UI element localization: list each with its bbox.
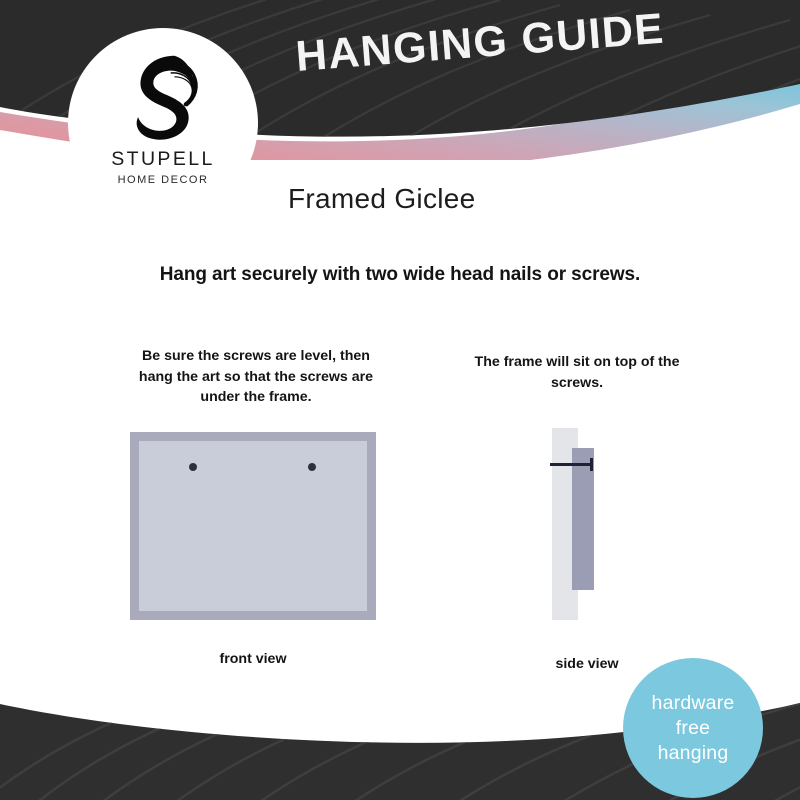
brand-logo-badge: STUPELL HOME DECOR bbox=[68, 28, 258, 218]
badge-line-3: hanging bbox=[658, 741, 729, 766]
front-view-caption: front view bbox=[130, 651, 376, 667]
hanging-guide-infographic: HANGING GUIDE STUPELL HOME DECOR Framed … bbox=[0, 0, 800, 800]
instruction-side-view: The frame will sit on top of the screws. bbox=[452, 352, 702, 393]
hardware-free-badge: hardware free hanging bbox=[623, 658, 763, 798]
badge-line-2: free bbox=[676, 716, 710, 741]
brand-name: STUPELL bbox=[111, 148, 215, 171]
instruction-front-view: Be sure the screws are level, then hang … bbox=[126, 346, 386, 408]
screw-hole-left-icon bbox=[189, 463, 197, 471]
screw-hole-right-icon bbox=[308, 463, 316, 471]
lead-instruction: Hang art securely with two wide head nai… bbox=[0, 264, 800, 286]
nail-head-icon bbox=[590, 458, 593, 471]
side-view-diagram bbox=[552, 428, 622, 620]
front-view-mat bbox=[139, 441, 367, 611]
stupell-swoosh-logo-icon bbox=[115, 50, 211, 142]
front-view-diagram bbox=[130, 432, 376, 620]
nail-icon bbox=[550, 463, 592, 466]
product-type: Framed Giclee bbox=[288, 183, 476, 215]
brand-tagline: HOME DECOR bbox=[118, 174, 209, 186]
badge-line-1: hardware bbox=[652, 691, 735, 716]
